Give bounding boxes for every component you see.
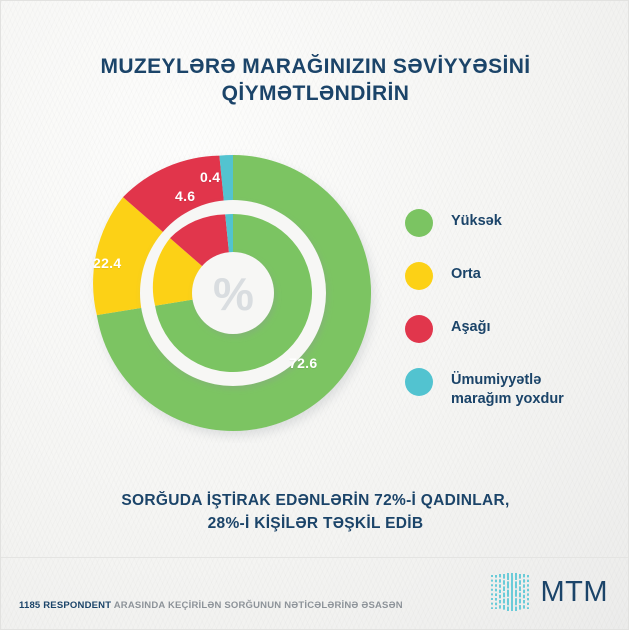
footer-bar: 1185 RESPONDENT ARASINDA KEÇİRİLƏN SORĞU… bbox=[1, 557, 629, 629]
legend-item-yoxdur[interactable]: Ümumiyyətlə marağım yoxdur bbox=[405, 367, 605, 409]
bottom-note: SORĞUDA İŞTİRAK EDƏNLƏRİN 72%-İ QADINLAR… bbox=[1, 489, 629, 535]
legend-swatch-red bbox=[405, 315, 433, 343]
mtm-wordmark: MTM bbox=[540, 578, 608, 607]
mtm-mesh-icon bbox=[489, 571, 531, 613]
legend-swatch-green bbox=[405, 209, 433, 237]
legend-label-asagi: Aşağı bbox=[451, 314, 491, 337]
legend-label-orta: Orta bbox=[451, 261, 481, 284]
page-title: MUZEYLƏRƏ MARAĞINIZIN SƏVİYYƏSİNİ QİYMƏT… bbox=[1, 53, 629, 107]
slice-value-orta: 22.4 bbox=[93, 255, 121, 271]
legend-label-yuksek: Yüksək bbox=[451, 208, 502, 231]
title-line-2: QİYMƏTLƏNDİRİN bbox=[61, 80, 570, 107]
footer-credit: 1185 RESPONDENT ARASINDA KEÇİRİLƏN SORĞU… bbox=[19, 600, 403, 611]
mtm-logo[interactable]: MTM bbox=[489, 571, 608, 613]
center-disc bbox=[192, 252, 274, 334]
legend-swatch-yellow bbox=[405, 262, 433, 290]
legend-item-yuksek[interactable]: Yüksək bbox=[405, 208, 605, 237]
pie-chart-svg bbox=[83, 143, 383, 443]
slice-value-yoxdur: 0.4 bbox=[200, 169, 220, 185]
infographic-canvas: MUZEYLƏRƏ MARAĞINIZIN SƏVİYYƏSİNİ QİYMƏT… bbox=[0, 0, 629, 630]
chart-legend: Yüksək Orta Aşağı Ümumiyyətlə marağım yo… bbox=[405, 208, 605, 433]
slice-value-yuksek: 72.6 bbox=[289, 355, 317, 371]
credit-text: ARASINDA KEÇİRİLƏN SORĞUNUN NƏTİCƏLƏRİNƏ… bbox=[111, 600, 403, 611]
bottom-note-line-1: SORĞUDA İŞTİRAK EDƏNLƏRİN 72%-İ QADINLAR… bbox=[51, 489, 580, 512]
legend-item-orta[interactable]: Orta bbox=[405, 261, 605, 290]
bottom-note-line-2: 28%-İ KİŞİLƏR TƏŞKİL EDİB bbox=[51, 512, 580, 535]
respondent-count: 1185 RESPONDENT bbox=[19, 600, 111, 611]
legend-swatch-cyan bbox=[405, 368, 433, 396]
title-line-1: MUZEYLƏRƏ MARAĞINIZIN SƏVİYYƏSİNİ bbox=[61, 53, 570, 80]
pie-chart: % 72.6 22.4 4.6 0.4 bbox=[83, 143, 383, 443]
slice-value-asagi: 4.6 bbox=[175, 188, 195, 204]
legend-label-yoxdur: Ümumiyyətlə marağım yoxdur bbox=[451, 367, 564, 409]
legend-item-asagi[interactable]: Aşağı bbox=[405, 314, 605, 343]
